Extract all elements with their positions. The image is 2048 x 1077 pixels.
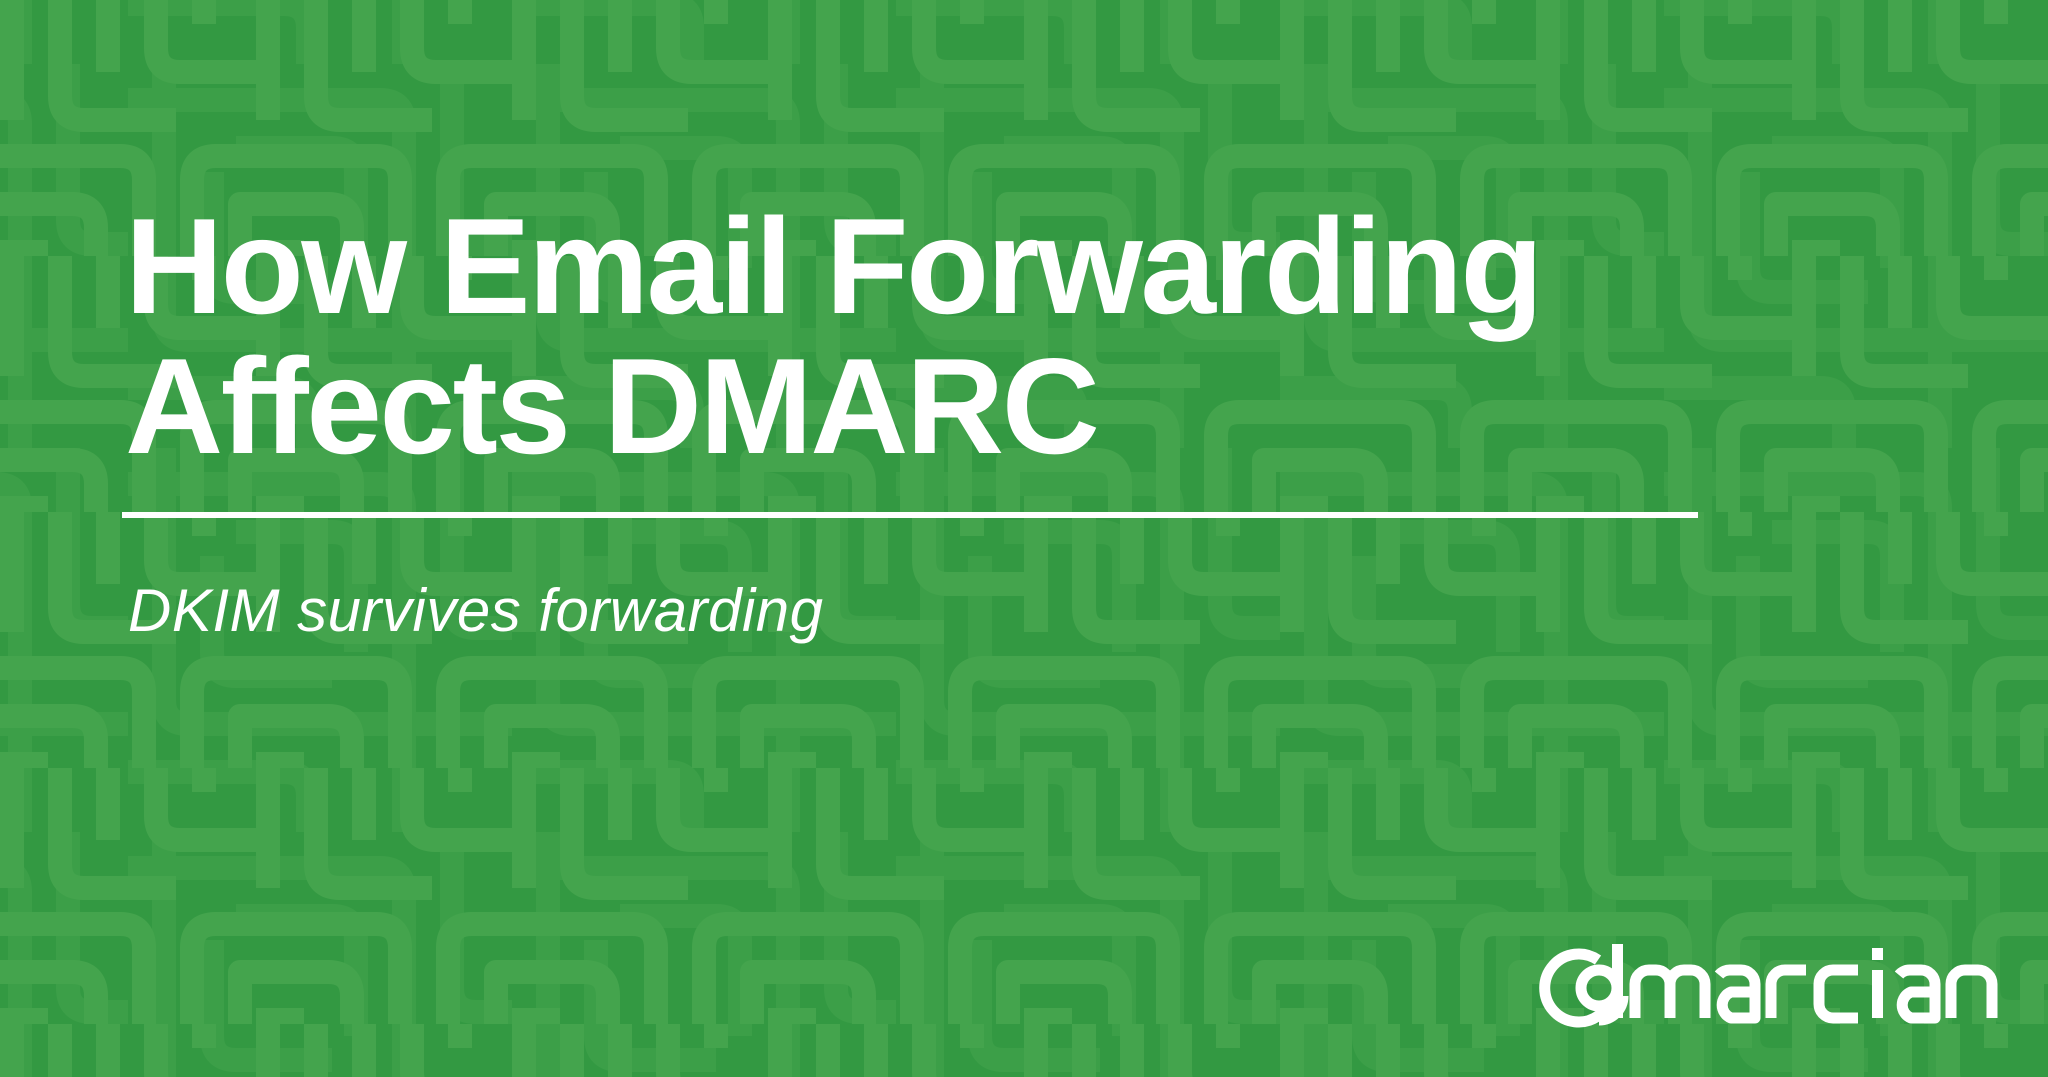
banner-card: How Email Forwarding Affects DMARC DKIM … — [0, 0, 2048, 1077]
title-divider — [122, 512, 1698, 518]
page-title-line-1: How Email Forwarding — [125, 196, 1745, 336]
page-title: How Email Forwarding Affects DMARC — [125, 196, 1745, 476]
page-subtitle: DKIM survives forwarding — [128, 576, 824, 646]
dmarcian-logo[interactable]: dmarcian — [1538, 938, 2012, 1030]
page-title-line-2: Affects DMARC — [125, 336, 1745, 476]
